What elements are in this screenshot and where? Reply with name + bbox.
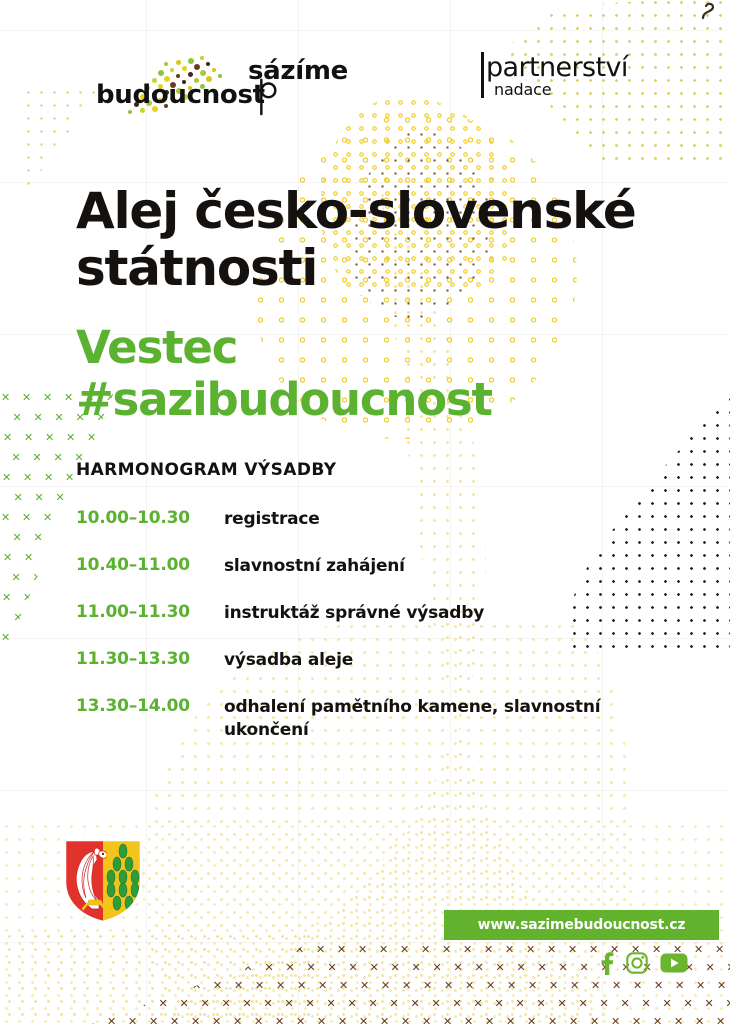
x-mark-icon: ✕ bbox=[66, 432, 75, 443]
x-mark-icon: ✕ bbox=[181, 962, 190, 973]
x-mark-icon: ✕ bbox=[369, 998, 378, 1009]
x-mark-icon: ✕ bbox=[400, 944, 409, 955]
x-mark-icon: ✕ bbox=[212, 1016, 221, 1024]
x-mark-icon: ✕ bbox=[360, 980, 369, 991]
x-mark-icon: ✕ bbox=[715, 944, 724, 955]
x-mark-icon: ✕ bbox=[358, 944, 367, 955]
x-mark-icon: ✕ bbox=[717, 980, 726, 991]
x-mark-icon: ✕ bbox=[295, 944, 304, 955]
x-mark-icon: ✕ bbox=[317, 1016, 326, 1024]
x-mark-icon: ✕ bbox=[391, 962, 400, 973]
x-mark-icon: ✕ bbox=[148, 944, 157, 955]
x-mark-icon: ✕ bbox=[381, 980, 390, 991]
logo-dot bbox=[200, 56, 204, 60]
schedule-row: 11.00–11.30instruktáž správné výsadby bbox=[76, 602, 656, 625]
x-mark-icon: ✕ bbox=[33, 572, 42, 583]
x-mark-icon: ✕ bbox=[23, 592, 32, 603]
x-mark-icon: ✕ bbox=[233, 1016, 242, 1024]
x-mark-icon: ✕ bbox=[633, 980, 642, 991]
x-mark-icon: ✕ bbox=[412, 962, 421, 973]
x-mark-icon: ✕ bbox=[255, 980, 264, 991]
x-mark-icon: ✕ bbox=[538, 962, 547, 973]
x-mark-icon: ✕ bbox=[276, 980, 285, 991]
partnerstvi-logo-line2: nadace bbox=[494, 80, 551, 99]
schedule-row-description: instruktáž správné výsadby bbox=[224, 602, 484, 625]
schedule-list: 10.00–10.30registrace10.40–11.00slavnost… bbox=[76, 508, 656, 766]
x-mark-icon: ✕ bbox=[13, 412, 22, 423]
x-mark-icon: ✕ bbox=[12, 452, 21, 463]
x-mark-icon: ✕ bbox=[222, 998, 231, 1009]
x-mark-icon: ✕ bbox=[35, 612, 44, 623]
x-mark-icon: ✕ bbox=[87, 980, 96, 991]
x-mark-icon: ✕ bbox=[77, 492, 86, 503]
x-mark-icon: ✕ bbox=[34, 412, 43, 423]
x-mark-icon: ✕ bbox=[549, 980, 558, 991]
x-mark-icon: ✕ bbox=[13, 652, 22, 663]
x-mark-icon: ✕ bbox=[243, 998, 252, 1009]
x-mark-icon: ✕ bbox=[422, 1016, 431, 1024]
x-mark-icon: ✕ bbox=[213, 980, 222, 991]
x-mark-icon: ✕ bbox=[22, 512, 31, 523]
x-mark-icon: ✕ bbox=[296, 1016, 305, 1024]
x-mark-icon: ✕ bbox=[337, 944, 346, 955]
x-mark-icon: ✕ bbox=[348, 998, 357, 1009]
x-mark-icon: ✕ bbox=[526, 944, 535, 955]
schedule-row: 10.00–10.30registrace bbox=[76, 508, 656, 531]
pale-dot-field-bottom-left bbox=[0, 930, 320, 1024]
sazime-logo-line2: budoucnost bbox=[96, 80, 265, 110]
x-mark-icon: ✕ bbox=[411, 998, 420, 1009]
x-mark-icon: ✕ bbox=[43, 392, 52, 403]
logo-dot bbox=[128, 110, 132, 114]
x-mark-icon: ✕ bbox=[421, 944, 430, 955]
x-mark-icon: ✕ bbox=[86, 1016, 95, 1024]
schedule-row-time: 10.00–10.30 bbox=[76, 508, 224, 528]
x-mark-icon: ✕ bbox=[107, 1016, 116, 1024]
x-mark-icon: ✕ bbox=[43, 512, 52, 523]
x-mark-icon: ✕ bbox=[591, 980, 600, 991]
x-mark-icon: ✕ bbox=[496, 962, 505, 973]
subtitle-hashtag: #sazibudoucnost bbox=[76, 374, 696, 426]
poster-canvas: ✕✕✕✕✕✕✕✕✕✕✕✕✕✕✕✕✕✕✕✕✕✕✕✕✕✕✕✕✕✕✕✕✕✕✕✕✕✕✕✕… bbox=[0, 0, 730, 1024]
x-mark-icon: ✕ bbox=[191, 1016, 200, 1024]
x-mark-icon: ✕ bbox=[171, 980, 180, 991]
x-mark-icon: ✕ bbox=[34, 532, 43, 543]
schedule-row-description: odhalení pamětního kamene, slavnostní uk… bbox=[224, 696, 656, 742]
x-mark-icon: ✕ bbox=[129, 432, 138, 443]
x-mark-icon: ✕ bbox=[286, 962, 295, 973]
x-mark-icon: ✕ bbox=[285, 998, 294, 1009]
facebook-icon[interactable] bbox=[600, 951, 614, 975]
logo-dot bbox=[176, 74, 180, 78]
x-mark-icon: ✕ bbox=[55, 652, 64, 663]
x-mark-icon: ✕ bbox=[359, 1016, 368, 1024]
x-mark-icon: ✕ bbox=[327, 998, 336, 1009]
x-mark-icon: ✕ bbox=[465, 980, 474, 991]
x-mark-icon: ✕ bbox=[370, 962, 379, 973]
x-mark-icon: ✕ bbox=[149, 1016, 158, 1024]
x-mark-icon: ✕ bbox=[22, 632, 31, 643]
x-mark-icon: ✕ bbox=[223, 962, 232, 973]
x-mark-icon: ✕ bbox=[559, 962, 568, 973]
x-mark-icon: ✕ bbox=[56, 612, 65, 623]
x-mark-icon: ✕ bbox=[64, 512, 73, 523]
x-mark-icon: ✕ bbox=[45, 552, 54, 563]
x-mark-icon: ✕ bbox=[401, 1016, 410, 1024]
x-mark-icon: ✕ bbox=[654, 980, 663, 991]
x-mark-icon: ✕ bbox=[442, 944, 451, 955]
x-mark-icon: ✕ bbox=[453, 998, 462, 1009]
schedule-row-time: 10.40–11.00 bbox=[76, 555, 224, 575]
x-mark-icon: ✕ bbox=[3, 552, 12, 563]
x-mark-icon: ✕ bbox=[484, 944, 493, 955]
x-mark-icon: ✕ bbox=[64, 632, 73, 643]
logo-dot bbox=[200, 70, 206, 76]
x-mark-icon: ✕ bbox=[1, 512, 10, 523]
x-mark-icon: ✕ bbox=[232, 944, 241, 955]
x-mark-icon: ✕ bbox=[642, 998, 651, 1009]
x-mark-icon: ✕ bbox=[684, 998, 693, 1009]
partnerstvi-logo-bar bbox=[481, 52, 484, 98]
x-mark-icon: ✕ bbox=[653, 1016, 662, 1024]
website-url-text: www.sazimebudoucnost.cz bbox=[478, 917, 686, 933]
x-mark-icon: ✕ bbox=[265, 962, 274, 973]
x-mark-icon: ✕ bbox=[106, 944, 115, 955]
schedule-row: 11.30–13.30výsadba aleje bbox=[76, 649, 656, 672]
x-mark-icon: ✕ bbox=[696, 980, 705, 991]
x-mark-icon: ✕ bbox=[423, 980, 432, 991]
logo-dot bbox=[164, 62, 168, 66]
x-mark-icon: ✕ bbox=[621, 998, 630, 1009]
x-mark-icon: ✕ bbox=[97, 962, 106, 973]
x-mark-icon: ✕ bbox=[706, 962, 715, 973]
schedule-heading: HARMONOGRAM VÝSADBY bbox=[76, 460, 336, 480]
x-mark-icon: ✕ bbox=[201, 998, 210, 1009]
x-mark-icon: ✕ bbox=[44, 592, 53, 603]
x-mark-icon: ✕ bbox=[307, 962, 316, 973]
x-mark-icon: ✕ bbox=[537, 998, 546, 1009]
x-mark-icon: ✕ bbox=[65, 472, 74, 483]
x-mark-icon: ✕ bbox=[402, 980, 411, 991]
x-mark-icon: ✕ bbox=[12, 572, 21, 583]
x-mark-icon: ✕ bbox=[45, 432, 54, 443]
x-mark-icon: ✕ bbox=[474, 998, 483, 1009]
x-mark-icon: ✕ bbox=[674, 1016, 683, 1024]
x-mark-icon: ✕ bbox=[2, 472, 11, 483]
x-mark-icon: ✕ bbox=[454, 962, 463, 973]
x-mark-icon: ✕ bbox=[695, 1016, 704, 1024]
x-mark-icon: ✕ bbox=[318, 980, 327, 991]
subtitle-location: Vestec bbox=[76, 322, 696, 374]
x-mark-icon: ✕ bbox=[117, 998, 126, 1009]
x-mark-icon: ✕ bbox=[548, 1016, 557, 1024]
youtube-icon[interactable] bbox=[660, 953, 688, 973]
schedule-row-time: 11.00–11.30 bbox=[76, 602, 224, 622]
x-mark-icon: ✕ bbox=[23, 472, 32, 483]
x-mark-icon: ✕ bbox=[517, 962, 526, 973]
x-mark-icon: ✕ bbox=[349, 962, 358, 973]
subtitle-block: Vestec #sazibudoucnost bbox=[76, 322, 696, 426]
x-mark-icon: ✕ bbox=[390, 998, 399, 1009]
x-mark-icon: ✕ bbox=[464, 1016, 473, 1024]
logo-dot bbox=[206, 62, 210, 66]
x-mark-icon: ✕ bbox=[160, 962, 169, 973]
x-mark-icon: ✕ bbox=[507, 980, 516, 991]
x-mark-icon: ✕ bbox=[433, 962, 442, 973]
x-mark-icon: ✕ bbox=[14, 612, 23, 623]
x-mark-icon: ✕ bbox=[589, 944, 598, 955]
x-mark-icon: ✕ bbox=[55, 412, 64, 423]
x-mark-icon: ✕ bbox=[66, 552, 75, 563]
logo-dot bbox=[182, 66, 187, 71]
x-mark-icon: ✕ bbox=[632, 1016, 641, 1024]
x-mark-icon: ✕ bbox=[495, 998, 504, 1009]
logo-dot bbox=[194, 64, 200, 70]
x-mark-icon: ✕ bbox=[579, 998, 588, 1009]
x-mark-icon: ✕ bbox=[275, 1016, 284, 1024]
vestec-coat-of-arms bbox=[63, 838, 143, 924]
schedule-row: 10.40–11.00slavnostní zahájení bbox=[76, 555, 656, 578]
x-mark-icon: ✕ bbox=[558, 998, 567, 1009]
x-mark-icon: ✕ bbox=[192, 980, 201, 991]
x-mark-icon: ✕ bbox=[108, 432, 117, 443]
x-mark-icon: ✕ bbox=[56, 492, 65, 503]
x-mark-icon: ✕ bbox=[306, 998, 315, 1009]
x-mark-icon: ✕ bbox=[64, 392, 73, 403]
x-mark-icon: ✕ bbox=[675, 980, 684, 991]
logo-row: sázíme budoucnost partnerství nadace bbox=[0, 46, 730, 122]
x-mark-icon: ✕ bbox=[43, 632, 52, 643]
x-mark-icon: ✕ bbox=[128, 1016, 137, 1024]
x-mark-icon: ✕ bbox=[1, 632, 10, 643]
x-mark-icon: ✕ bbox=[13, 532, 22, 543]
x-mark-icon: ✕ bbox=[85, 944, 94, 955]
logo-dot bbox=[212, 68, 216, 72]
x-mark-icon: ✕ bbox=[527, 1016, 536, 1024]
sazime-logo-p-mark-icon bbox=[258, 78, 278, 116]
x-mark-icon: ✕ bbox=[44, 472, 53, 483]
social-links bbox=[600, 950, 700, 976]
x-mark-icon: ✕ bbox=[516, 998, 525, 1009]
schedule-row-time: 13.30–14.00 bbox=[76, 696, 224, 716]
x-mark-icon: ✕ bbox=[253, 944, 262, 955]
x-mark-icon: ✕ bbox=[443, 1016, 452, 1024]
x-mark-icon: ✕ bbox=[54, 452, 63, 463]
x-mark-icon: ✕ bbox=[570, 980, 579, 991]
x-mark-icon: ✕ bbox=[180, 998, 189, 1009]
logo-dot bbox=[170, 68, 174, 72]
x-mark-icon: ✕ bbox=[486, 980, 495, 991]
x-mark-icon: ✕ bbox=[54, 572, 63, 583]
x-mark-icon: ✕ bbox=[24, 552, 33, 563]
schedule-row-time: 11.30–13.30 bbox=[76, 649, 224, 669]
logo-dot bbox=[218, 74, 222, 78]
x-mark-icon: ✕ bbox=[600, 998, 609, 1009]
x-mark-icon: ✕ bbox=[506, 1016, 515, 1024]
x-mark-icon: ✕ bbox=[169, 944, 178, 955]
logo-dot bbox=[188, 58, 194, 64]
x-mark-icon: ✕ bbox=[139, 962, 148, 973]
x-mark-icon: ✕ bbox=[528, 980, 537, 991]
x-mark-icon: ✕ bbox=[612, 980, 621, 991]
x-mark-icon: ✕ bbox=[129, 980, 138, 991]
x-mark-icon: ✕ bbox=[22, 392, 31, 403]
x-mark-icon: ✕ bbox=[568, 944, 577, 955]
website-url-bar[interactable]: www.sazimebudoucnost.cz bbox=[444, 910, 719, 940]
x-mark-icon: ✕ bbox=[316, 944, 325, 955]
x-mark-icon: ✕ bbox=[138, 998, 147, 1009]
schedule-row: 13.30–14.00odhalení pamětního kamene, sl… bbox=[76, 696, 656, 742]
x-mark-icon: ✕ bbox=[96, 998, 105, 1009]
partnerstvi-logo-line1: partnerství bbox=[486, 52, 628, 83]
x-mark-icon: ✕ bbox=[55, 532, 64, 543]
x-mark-icon: ✕ bbox=[380, 1016, 389, 1024]
x-mark-icon: ✕ bbox=[3, 432, 12, 443]
x-mark-icon: ✕ bbox=[716, 1016, 725, 1024]
x-mark-icon: ✕ bbox=[505, 944, 514, 955]
schedule-row-description: registrace bbox=[224, 508, 320, 531]
x-mark-icon: ✕ bbox=[24, 432, 33, 443]
x-mark-icon: ✕ bbox=[254, 1016, 263, 1024]
page-title: Alej česko-slovenské státnosti bbox=[76, 183, 676, 297]
x-mark-icon: ✕ bbox=[590, 1016, 599, 1024]
x-mark-icon: ✕ bbox=[161, 492, 170, 503]
schedule-row-description: slavnostní zahájení bbox=[224, 555, 405, 578]
x-mark-icon: ✕ bbox=[328, 962, 337, 973]
x-mark-icon: ✕ bbox=[475, 962, 484, 973]
x-mark-icon: ✕ bbox=[202, 962, 211, 973]
x-mark-icon: ✕ bbox=[580, 962, 589, 973]
x-mark-icon: ✕ bbox=[663, 998, 672, 1009]
x-mark-icon: ✕ bbox=[170, 1016, 179, 1024]
x-mark-icon: ✕ bbox=[140, 492, 149, 503]
x-mark-icon: ✕ bbox=[33, 452, 42, 463]
x-mark-icon: ✕ bbox=[338, 1016, 347, 1024]
x-mark-icon: ✕ bbox=[726, 998, 730, 1009]
instagram-icon[interactable] bbox=[626, 952, 648, 974]
x-mark-icon: ✕ bbox=[14, 492, 23, 503]
x-mark-icon: ✕ bbox=[297, 980, 306, 991]
corner-curl-icon bbox=[700, 2, 716, 20]
x-mark-icon: ✕ bbox=[727, 962, 730, 973]
x-mark-icon: ✕ bbox=[274, 944, 283, 955]
x-mark-icon: ✕ bbox=[150, 980, 159, 991]
nadace-partnerstvi-logo[interactable]: partnerství nadace bbox=[478, 52, 698, 114]
schedule-row-description: výsadba aleje bbox=[224, 649, 353, 672]
x-mark-icon: ✕ bbox=[485, 1016, 494, 1024]
x-mark-icon: ✕ bbox=[2, 592, 11, 603]
x-mark-icon: ✕ bbox=[569, 1016, 578, 1024]
x-mark-icon: ✕ bbox=[108, 980, 117, 991]
x-mark-icon: ✕ bbox=[150, 432, 159, 443]
x-mark-icon: ✕ bbox=[234, 980, 243, 991]
x-mark-icon: ✕ bbox=[463, 944, 472, 955]
x-mark-icon: ✕ bbox=[98, 492, 107, 503]
logo-dot bbox=[176, 60, 181, 65]
x-mark-icon: ✕ bbox=[244, 962, 253, 973]
x-mark-icon: ✕ bbox=[264, 998, 273, 1009]
sazime-budoucnost-logo[interactable]: sázíme budoucnost bbox=[96, 54, 396, 118]
x-mark-icon: ✕ bbox=[65, 592, 74, 603]
x-mark-icon: ✕ bbox=[119, 492, 128, 503]
x-mark-icon: ✕ bbox=[339, 980, 348, 991]
logo-dot bbox=[158, 70, 164, 76]
x-mark-icon: ✕ bbox=[1, 392, 10, 403]
x-mark-icon: ✕ bbox=[34, 652, 43, 663]
logo-dot bbox=[188, 72, 193, 77]
x-mark-icon: ✕ bbox=[444, 980, 453, 991]
x-mark-icon: ✕ bbox=[211, 944, 220, 955]
x-mark-icon: ✕ bbox=[87, 432, 96, 443]
x-mark-icon: ✕ bbox=[118, 962, 127, 973]
x-mark-icon: ✕ bbox=[379, 944, 388, 955]
x-mark-icon: ✕ bbox=[159, 998, 168, 1009]
x-mark-icon: ✕ bbox=[35, 492, 44, 503]
x-mark-icon: ✕ bbox=[611, 1016, 620, 1024]
x-mark-icon: ✕ bbox=[705, 998, 714, 1009]
x-mark-icon: ✕ bbox=[432, 998, 441, 1009]
x-mark-icon: ✕ bbox=[190, 944, 199, 955]
x-mark-icon: ✕ bbox=[547, 944, 556, 955]
x-mark-icon: ✕ bbox=[127, 944, 136, 955]
